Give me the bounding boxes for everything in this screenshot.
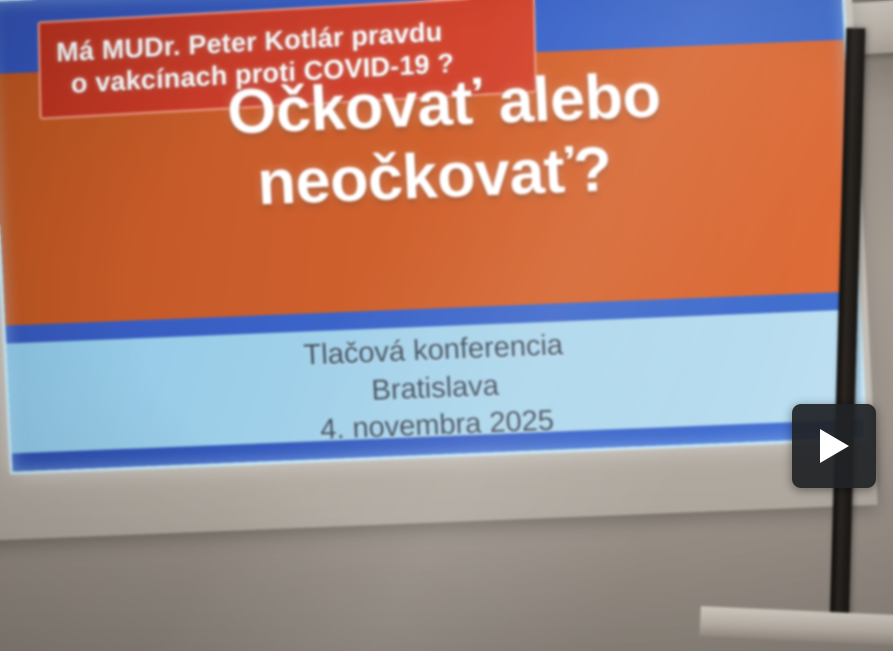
play-button[interactable] [792, 404, 876, 488]
video-thumbnail[interactable]: Má MUDr. Peter Kotlár pravdu o vakcínach… [0, 0, 893, 651]
projection-screen: Má MUDr. Peter Kotlár pravdu o vakcínach… [0, 0, 878, 541]
presentation-slide: Má MUDr. Peter Kotlár pravdu o vakcínach… [0, 0, 864, 471]
play-triangle-icon [817, 427, 851, 465]
